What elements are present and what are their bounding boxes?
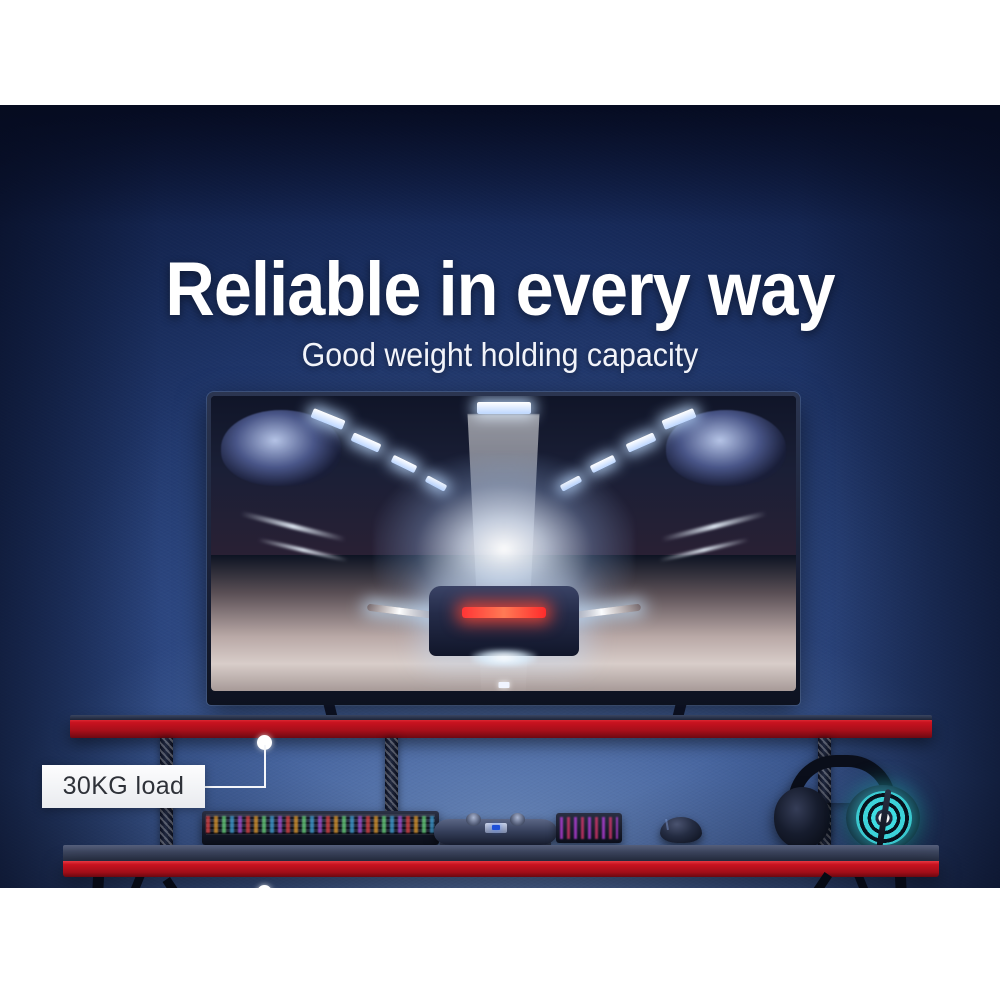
gaming-monitor [207, 392, 800, 705]
monitor-power-led [498, 682, 509, 688]
callout-leader-vertical-shelf [264, 745, 266, 788]
game-light-strip [477, 402, 531, 414]
monitor-screen [211, 396, 796, 691]
monitor-shelf [70, 719, 932, 738]
monitor-shelf-surface [70, 715, 932, 720]
page-subtitle: Good weight holding capacity [40, 336, 960, 374]
keyboard-rgb-backlight [206, 816, 435, 833]
game-car-body [429, 586, 579, 656]
page-title: Reliable in every way [50, 253, 950, 327]
callout-shelf-capacity: 30KG load [42, 765, 205, 808]
callout-shelf-capacity-label: 30KG load [63, 772, 185, 801]
numpad-rgb-backlight [560, 817, 618, 839]
rgb-gaming-headset [770, 755, 920, 851]
controller-stick-right [510, 813, 525, 826]
callout-leader-horizontal-shelf [205, 786, 266, 788]
gaming-mouse [660, 817, 702, 843]
game-car [429, 586, 579, 656]
mouse-button-split [665, 819, 669, 830]
controller-stick-left [466, 813, 481, 826]
product-banner: 30KG load 90KG load Reliable in every wa… [0, 0, 1000, 1000]
game-car-headlight [471, 649, 537, 667]
controller-lightbar [492, 825, 500, 830]
rgb-mechanical-keyboard [202, 811, 439, 845]
monitor-bezel [207, 392, 800, 705]
scene-photo: 30KG load 90KG load Reliable in every wa… [0, 105, 1000, 888]
game-car-taillight [462, 607, 546, 618]
headset-earcup-left [774, 787, 830, 849]
rgb-numpad [556, 813, 622, 843]
desk-front-edge [63, 861, 939, 877]
